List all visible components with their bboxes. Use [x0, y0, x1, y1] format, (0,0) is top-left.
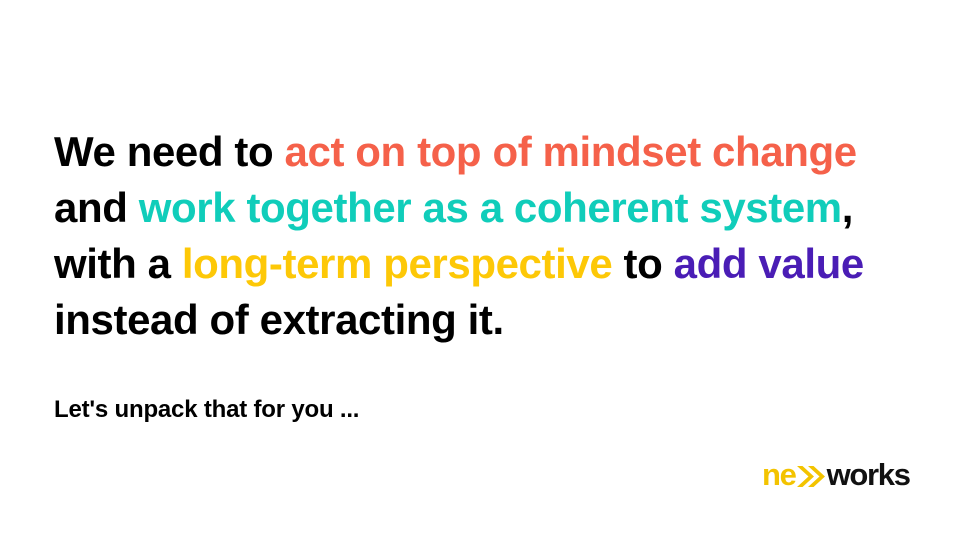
subtitle-text: Let's unpack that for you ... [54, 395, 359, 425]
headline-text: We need to act on top of mindset change … [54, 124, 934, 348]
headline-segment-3: work together as a coherent system [139, 184, 842, 231]
headline-segment-0: We need to [54, 128, 285, 175]
logo-text-works: works [827, 459, 910, 491]
headline-segment-5: long-term perspective [182, 240, 612, 287]
nexxworks-logo: ne works [762, 459, 910, 491]
logo-text-ne: ne [762, 459, 796, 491]
headline-segment-8: instead of extracting it. [54, 296, 504, 343]
headline-segment-2: and [54, 184, 139, 231]
headline-segment-7: add value [674, 240, 864, 287]
double-chevron-icon [796, 466, 826, 487]
headline-segment-6: to [612, 240, 673, 287]
headline-segment-1: act on top of mindset change [285, 128, 857, 175]
slide-canvas: We need to act on top of mindset change … [0, 0, 966, 543]
